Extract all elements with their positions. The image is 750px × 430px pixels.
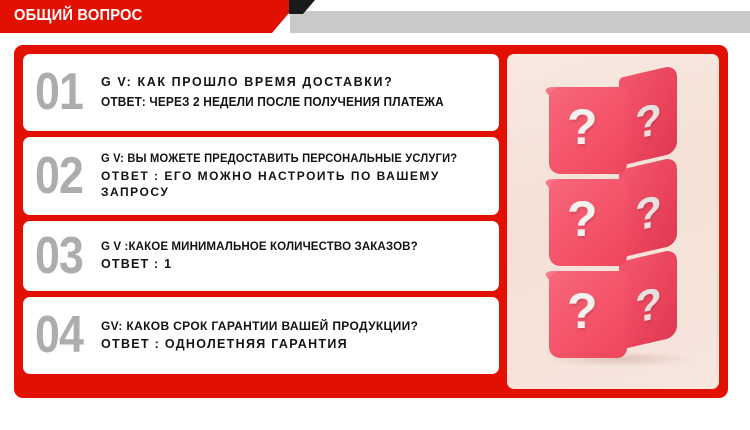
faq-question: GV: КАКОВ СРОК ГАРАНТИИ ВАШЕЙ ПРОДУКЦИИ? <box>101 317 493 336</box>
faq-number: 03 <box>23 234 94 279</box>
question-cube-stack: ? ? ? ? ? ? <box>549 78 677 356</box>
faq-content: G V: ВЫ МОЖЕТЕ ПРЕДОСТАВИТЬ ПЕРСОНАЛЬНЫЕ… <box>101 152 499 199</box>
faq-number: 01 <box>23 70 94 115</box>
content-frame: 01 G V: КАК ПРОШЛО ВРЕМЯ ДОСТАВКИ? ОТВЕТ… <box>14 45 728 398</box>
question-mark-icon: ? <box>635 281 662 331</box>
faq-item-03[interactable]: 03 G V :КАКОЕ МИНИМАЛЬНОЕ КОЛИЧЕСТВО ЗАК… <box>23 221 499 291</box>
faq-illustration-panel: ? ? ? ? ? ? <box>507 54 719 389</box>
question-mark-icon: ? <box>635 97 662 147</box>
faq-number: 04 <box>23 313 94 358</box>
faq-question: G V: ВЫ МОЖЕТЕ ПРЕДОСТАВИТЬ ПЕРСОНАЛЬНЫЕ… <box>101 152 481 166</box>
header-banner: ОБЩИЙ ВОПРОС <box>0 0 750 36</box>
faq-answer: ОТВЕТ: ЧЕРЕЗ 2 НЕДЕЛИ ПОСЛЕ ПОЛУЧЕНИЯ ПЛ… <box>101 92 473 112</box>
faq-item-04[interactable]: 04 GV: КАКОВ СРОК ГАРАНТИИ ВАШЕЙ ПРОДУКЦ… <box>23 297 499 374</box>
question-cube-bottom: ? ? <box>549 262 677 358</box>
faq-item-01[interactable]: 01 G V: КАК ПРОШЛО ВРЕМЯ ДОСТАВКИ? ОТВЕТ… <box>23 54 499 131</box>
faq-content: G V :КАКОЕ МИНИМАЛЬНОЕ КОЛИЧЕСТВО ЗАКАЗО… <box>101 238 499 274</box>
faq-question: G V: КАК ПРОШЛО ВРЕМЯ ДОСТАВКИ? <box>101 73 493 92</box>
faq-content: GV: КАКОВ СРОК ГАРАНТИИ ВАШЕЙ ПРОДУКЦИИ?… <box>101 317 499 355</box>
faq-content: G V: КАК ПРОШЛО ВРЕМЯ ДОСТАВКИ? ОТВЕТ: Ч… <box>101 73 499 112</box>
faq-number: 02 <box>23 154 94 199</box>
page-title: ОБЩИЙ ВОПРОС <box>14 7 142 25</box>
faq-answer: ОТВЕТ : 1 <box>101 255 493 274</box>
faq-question: G V :КАКОЕ МИНИМАЛЬНОЕ КОЛИЧЕСТВО ЗАКАЗО… <box>101 238 485 255</box>
header-gray-bar <box>290 11 750 33</box>
question-mark-icon: ? <box>567 194 598 244</box>
faq-list: 01 G V: КАК ПРОШЛО ВРЕМЯ ДОСТАВКИ? ОТВЕТ… <box>23 54 499 389</box>
question-cube-top: ? ? <box>549 78 677 174</box>
faq-item-02[interactable]: 02 G V: ВЫ МОЖЕТЕ ПРЕДОСТАВИТЬ ПЕРСОНАЛЬ… <box>23 137 499 215</box>
faq-answer: ОТВЕТ : ЕГО МОЖНО НАСТРОИТЬ ПО ВАШЕМУ ЗА… <box>101 169 493 199</box>
faq-answer: ОТВЕТ : ОДНОЛЕТНЯЯ ГАРАНТИЯ <box>101 335 493 354</box>
question-mark-icon: ? <box>567 286 598 336</box>
question-mark-icon: ? <box>635 189 662 239</box>
question-mark-icon: ? <box>567 102 598 152</box>
question-cube-middle: ? ? <box>549 170 677 266</box>
